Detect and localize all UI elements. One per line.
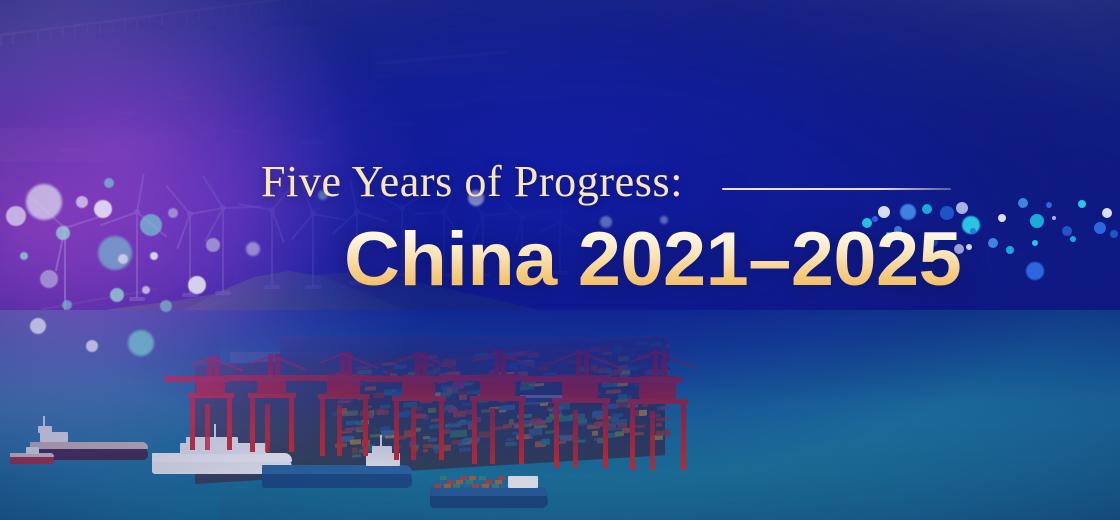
title-line-primary: Five Years of Progress: (261, 160, 683, 204)
hero-banner: Five Years of Progress: China 2021–2025 (0, 0, 1120, 520)
banner-title-block: Five Years of Progress: China 2021–2025 (0, 0, 1120, 520)
title-divider-rule (722, 188, 951, 190)
title-line-secondary: China 2021–2025 (344, 222, 961, 298)
